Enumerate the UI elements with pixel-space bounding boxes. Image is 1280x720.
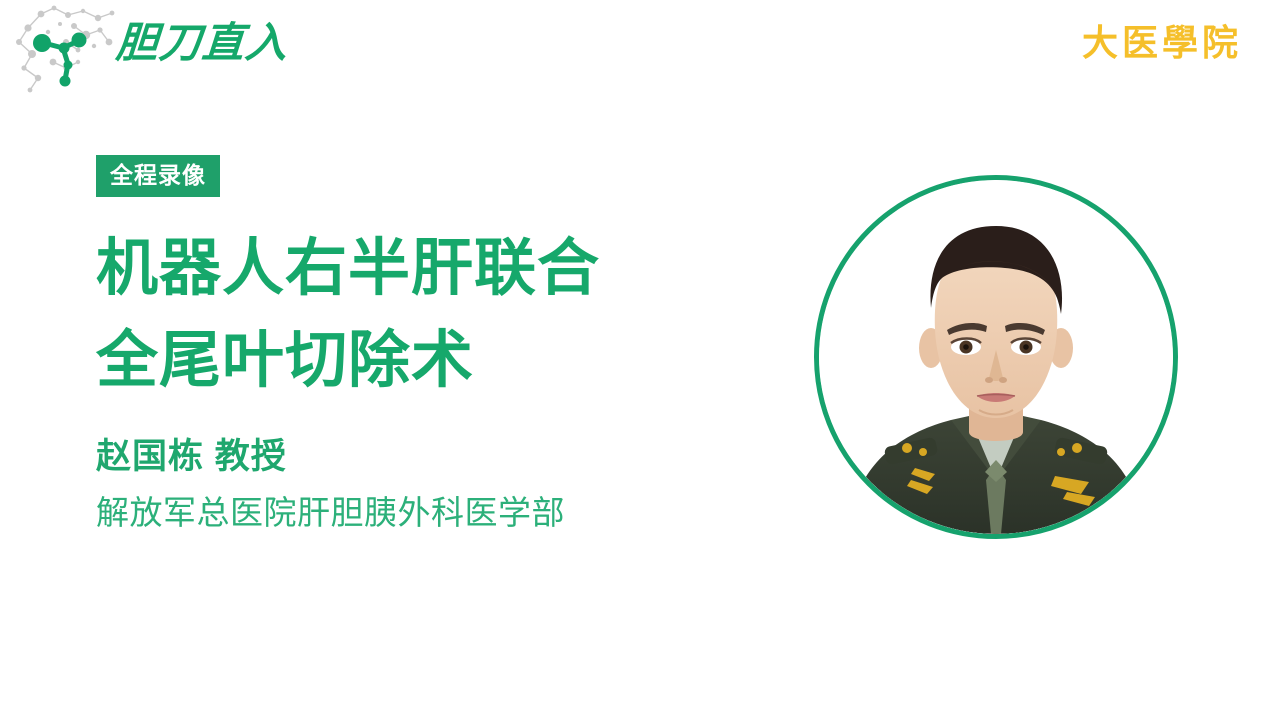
speaker-affiliation: 解放军总医院肝胆胰外科医学部 [96, 493, 756, 533]
brand-logo: 胆刀直入 [8, 2, 278, 102]
page-title-line-2: 全尾叶切除术 [96, 315, 696, 407]
title-card: 胆刀直入 大医學院 全程录像 机器人右半肝联合 全尾叶切除术 赵国栋 教授 解放… [0, 0, 1280, 720]
speaker-photo-illustration [819, 180, 1173, 534]
content-column: 全程录像 机器人右半肝联合 全尾叶切除术 赵国栋 教授 解放军总医院肝胆胰外科医… [96, 155, 756, 533]
page-title: 机器人右半肝联合 全尾叶切除术 [96, 223, 696, 407]
academy-mark: 大医學院 [1082, 22, 1242, 64]
avatar [814, 175, 1178, 539]
page-title-line-1: 机器人右半肝联合 [96, 223, 696, 315]
brand-wordmark: 胆刀直入 [114, 21, 289, 65]
speaker-photo [819, 180, 1173, 534]
status-badge: 全程录像 [96, 155, 220, 197]
network-nodes-icon [8, 2, 126, 102]
speaker-name: 赵国栋 教授 [96, 437, 756, 477]
